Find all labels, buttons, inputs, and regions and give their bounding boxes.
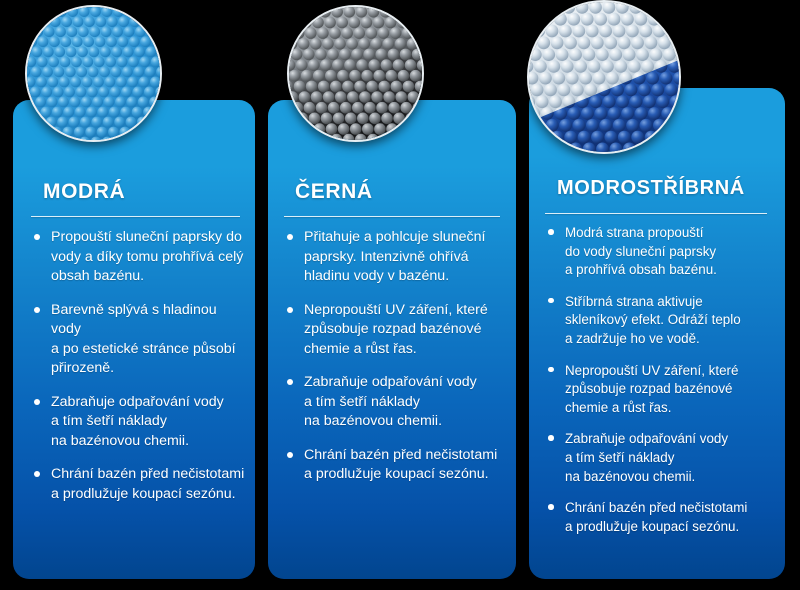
black-bubble-cover-photo-graphic [289,7,422,140]
list-item: Zabraňuje odpařování vody a tím šetří ná… [284,373,508,432]
bullet-dot-icon [287,234,293,240]
card-modrostribrna-body: MODROSTŘÍBRNÁ Modrá strana propouští do … [529,88,785,579]
bullet-dot-icon [548,229,554,235]
bullet-dot-icon [548,504,554,510]
bullet-dot-icon [287,379,293,385]
bullet-text: Modrá strana propouští do vody sluneční … [565,224,777,280]
card-modra-body: MODRÁ Propouští sluneční paprsky do vody… [13,100,255,579]
card-modra-title: MODRÁ [43,180,125,204]
bullet-text: Chrání bazén před nečistotami a prodlužu… [565,499,777,536]
list-item: Barevně splývá s hladinou vody a po este… [31,301,247,379]
bullet-text: Přitahuje a pohlcuje sluneční paprsky. I… [304,228,508,287]
list-item: Stříbrná strana aktivuje skleníkový efek… [545,293,777,349]
list-item: Zabraňuje odpařování vody a tím šetří ná… [545,430,777,486]
list-item: Chrání bazén před nečistotami a prodlužu… [545,499,777,536]
list-item: Chrání bazén před nečistotami a prodlužu… [31,465,247,504]
card-cerna-bullet-list: Přitahuje a pohlcuje sluneční paprsky. I… [268,228,516,499]
blue-silver-bubble-cover-photo [527,0,681,154]
list-item: Propouští sluneční paprsky do vody a dík… [31,228,247,287]
card-cerna-title-divider [284,216,500,217]
list-item: Modrá strana propouští do vody sluneční … [545,224,777,280]
bullet-dot-icon [287,307,293,313]
list-item: Zabraňuje odpařování vody a tím šetří ná… [31,393,247,452]
bullet-text: Nepropouští UV záření, které způsobuje r… [304,301,508,360]
card-modrostribrna-bullet-list: Modrá strana propouští do vody sluneční … [529,224,785,549]
card-modra-title-divider [31,216,240,217]
blue-bubble-cover-photo [25,5,162,142]
bullet-text: Zabraňuje odpařování vody a tím šetří ná… [565,430,777,486]
blue-silver-bubble-cover-photo-graphic [529,2,679,152]
bullet-dot-icon [34,234,40,240]
bullet-dot-icon [34,471,40,477]
bullet-dot-icon [34,307,40,313]
bullet-text: Zabraňuje odpařování vody a tím šetří ná… [51,393,247,452]
card-modra: MODRÁ Propouští sluneční paprsky do vody… [13,100,255,579]
card-cerna-title: ČERNÁ [295,180,373,204]
bullet-text: Chrání bazén před nečistotami a prodlužu… [304,446,508,485]
card-cerna-body: ČERNÁ Přitahuje a pohlcuje sluneční papr… [268,100,516,579]
bullet-dot-icon [34,399,40,405]
bullet-text: Chrání bazén před nečistotami a prodlužu… [51,465,247,504]
bullet-text: Barevně splývá s hladinou vody a po este… [51,301,247,379]
bullet-dot-icon [548,435,554,441]
bullet-text: Propouští sluneční paprsky do vody a dík… [51,228,247,287]
card-cerna: ČERNÁ Přitahuje a pohlcuje sluneční papr… [268,100,516,579]
list-item: Nepropouští UV záření, které způsobuje r… [284,301,508,360]
bullet-dot-icon [287,452,293,458]
bullet-text: Zabraňuje odpařování vody a tím šetří ná… [304,373,508,432]
bullet-dot-icon [548,367,554,373]
card-modrostribrna-title-divider [545,213,767,214]
list-item: Přitahuje a pohlcuje sluneční paprsky. I… [284,228,508,287]
card-modra-bullet-list: Propouští sluneční paprsky do vody a dík… [13,228,255,518]
infographic-root: MODRÁ Propouští sluneční paprsky do vody… [0,0,800,590]
bullet-dot-icon [548,298,554,304]
list-item: Chrání bazén před nečistotami a prodlužu… [284,446,508,485]
bullet-text: Nepropouští UV záření, které způsobuje r… [565,362,777,418]
card-modrostribrna-title: MODROSTŘÍBRNÁ [557,177,745,200]
list-item: Nepropouští UV záření, které způsobuje r… [545,362,777,418]
black-bubble-cover-photo [287,5,424,142]
card-modrostribrna: MODROSTŘÍBRNÁ Modrá strana propouští do … [529,88,785,579]
bullet-text: Stříbrná strana aktivuje skleníkový efek… [565,293,777,349]
blue-bubble-cover-photo-graphic [27,7,160,140]
